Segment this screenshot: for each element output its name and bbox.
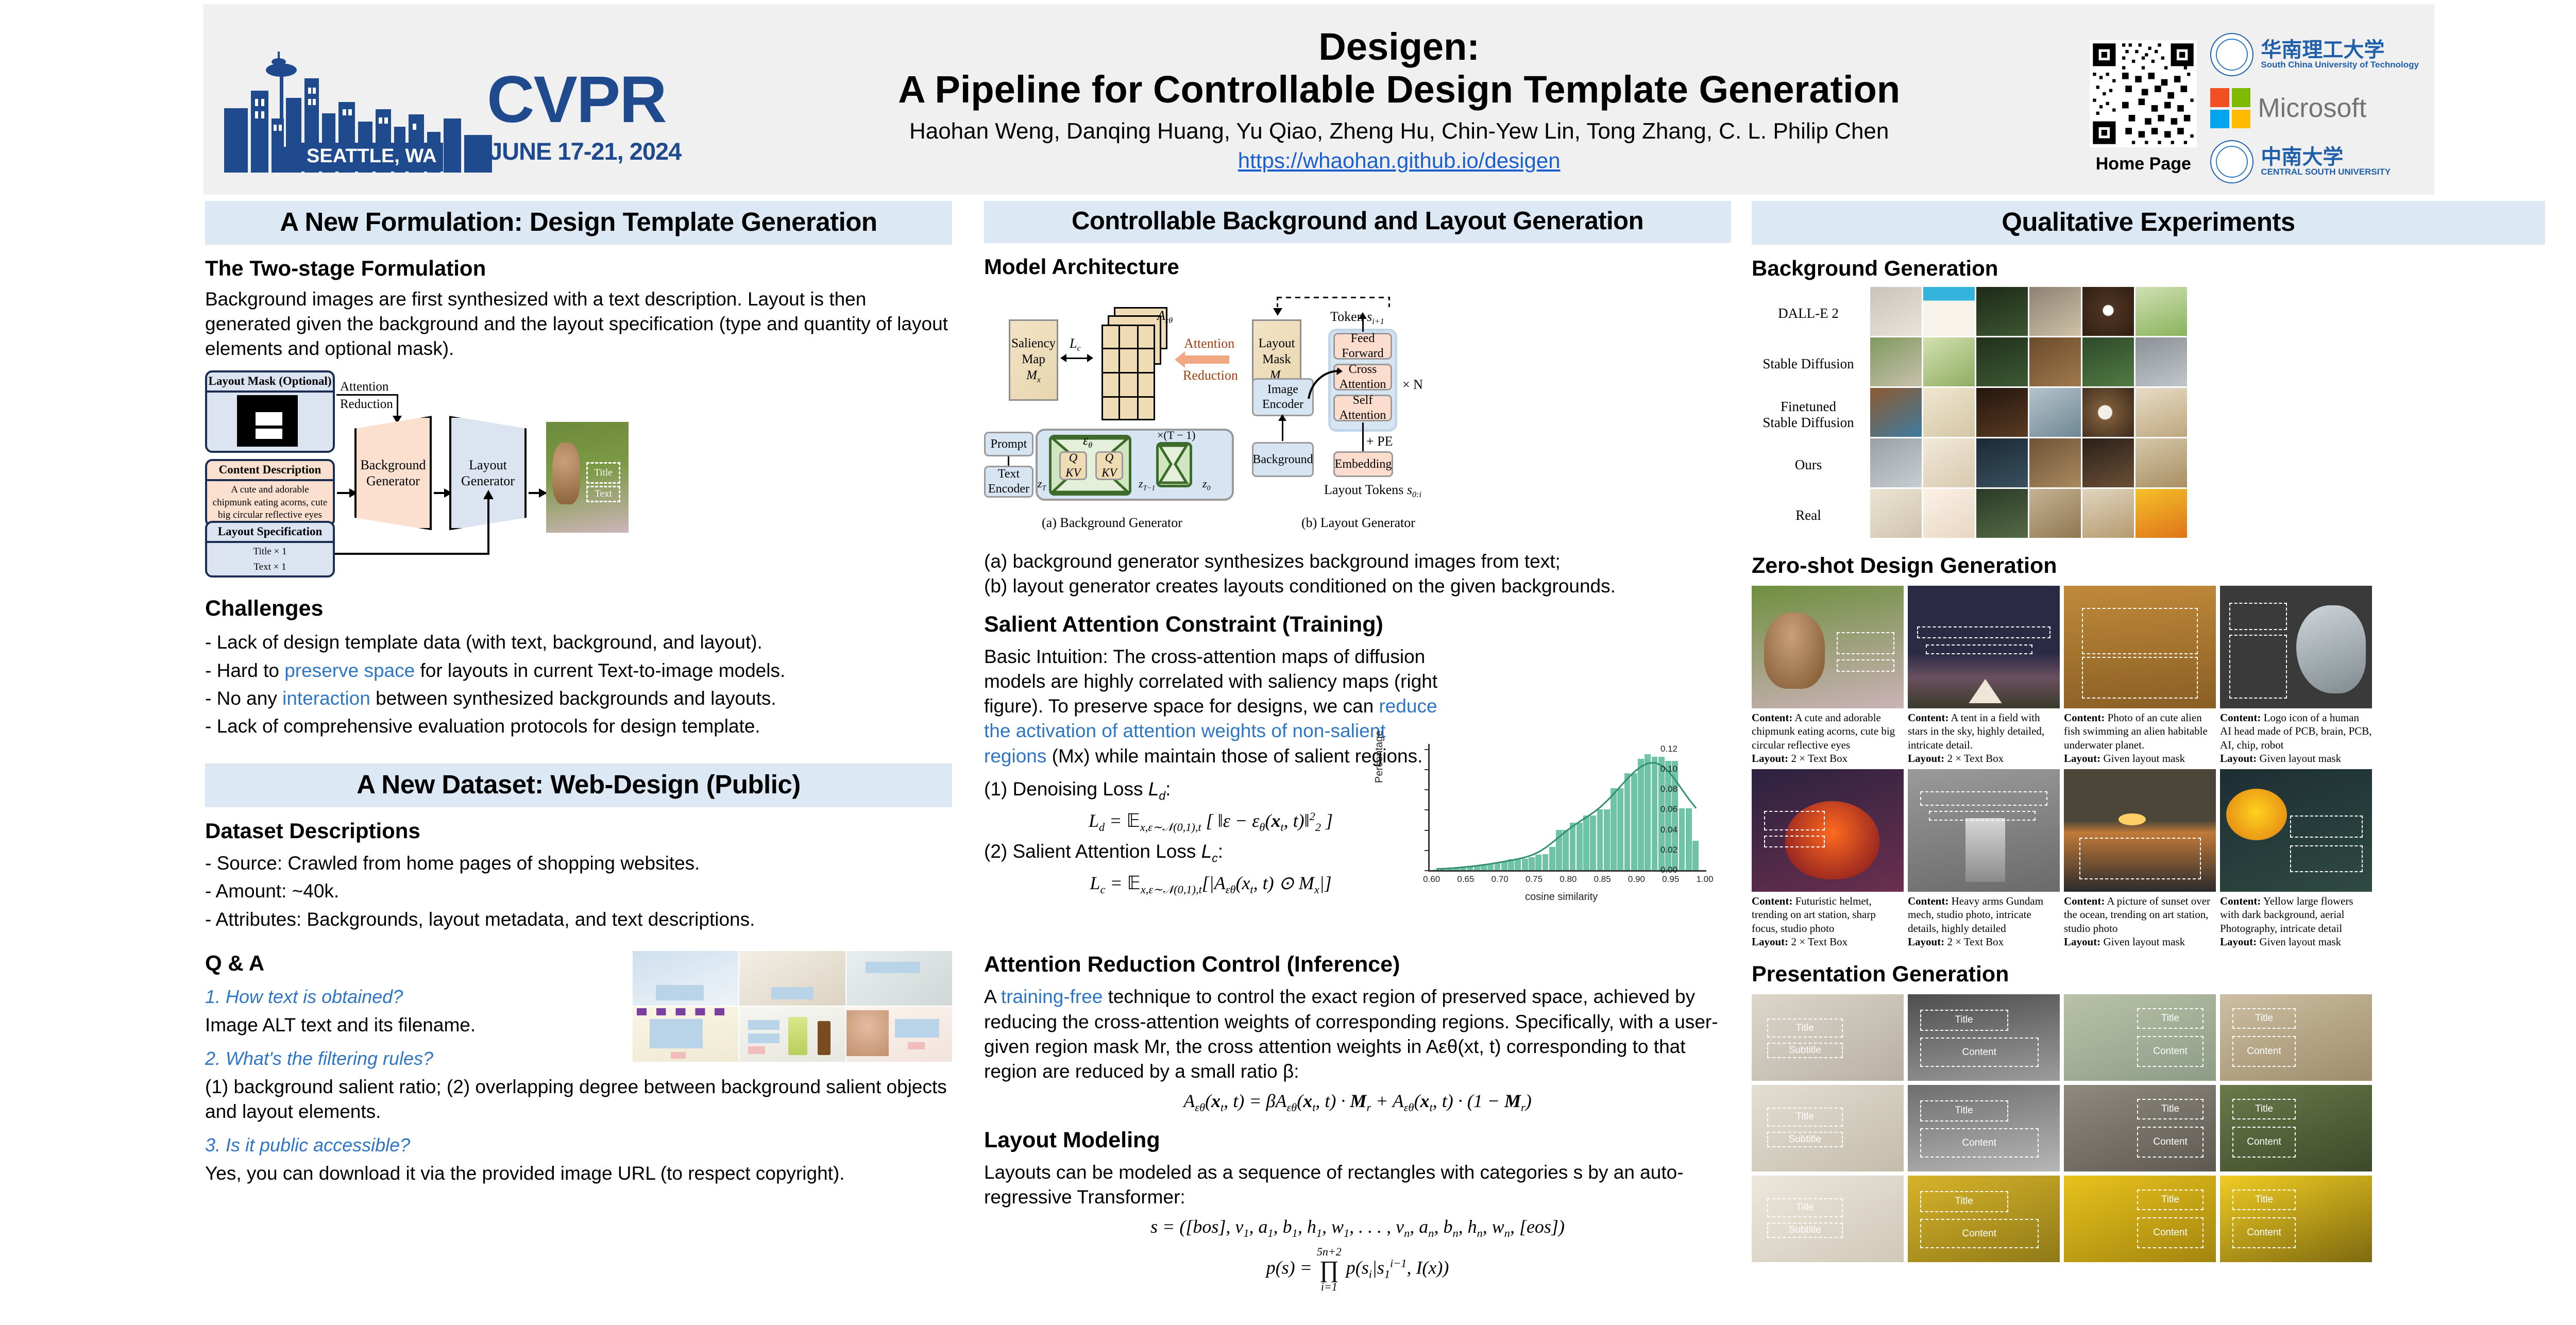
qr-code-icon[interactable]	[2090, 40, 2197, 147]
row-label-ours: Ours	[1752, 440, 1865, 489]
model-architecture-diagram: Saliency Map Mx Lc Aεθ Attention Reducti…	[984, 285, 1731, 502]
dataset-collage	[633, 951, 952, 1062]
zeroshot-item: Content: Photo of an cute alien fish swi…	[2064, 586, 2216, 765]
arch-note-a: (a) background generator synthesizes bac…	[984, 549, 1731, 574]
author-list: Haohan Weng, Danqing Huang, Yu Qiao, Zhe…	[714, 118, 2084, 145]
arch-loop-label: ×(T − 1)	[1157, 429, 1196, 442]
arch-attention-label: Attention	[1184, 336, 1234, 351]
saliency-similarity-histogram: Percentage cosine similarity 0.000.020.0…	[1370, 737, 1731, 907]
chart-ytick: 0.04	[1641, 825, 1677, 835]
bg-grid-row-labels: DALL-E 2 Stable Diffusion Finetuned Stab…	[1752, 287, 1865, 540]
chart-ytick-mark	[1425, 850, 1429, 851]
zeroshot-item: Content: Heavy arms Gundam mech, studio …	[1908, 769, 2060, 948]
arch-times-n: × N	[1402, 377, 1423, 393]
dataset-item-3: - Attributes: Backgrounds, layout metada…	[205, 906, 952, 933]
formula-layout-probability: p(s) = 5n+2∏i=1 p(si|s1i−1, I(x))	[984, 1246, 1731, 1293]
presentation-cell: Title Content	[2064, 994, 2216, 1081]
pipeline-output-image: Title Text	[546, 422, 629, 533]
presentation-cell: Title Content	[2220, 994, 2372, 1081]
text-attention-reduction: A training-free technique to control the…	[984, 984, 1731, 1083]
arch-background: Background	[1252, 442, 1314, 477]
arch-caption-a: (a) Background Generator	[1042, 515, 1182, 531]
presentation-cell: Title Subtitle	[1752, 1085, 1904, 1171]
title-block: Desigen: A Pipeline for Controllable Des…	[708, 26, 2090, 174]
lc-label: Lc	[1070, 336, 1081, 353]
arch-saliency-map: Saliency Map Mx	[1009, 319, 1058, 401]
layout-spec-wrap: Layout Specification Title × 1 Text × 1	[205, 521, 952, 583]
arch-qkv-2: QKV	[1095, 451, 1123, 480]
poster-header: SEATTLE, WA CVPR JUNE 17-21, 2024 Desige…	[204, 4, 2434, 195]
zeroshot-item: Content: Logo icon of a human AI head ma…	[2220, 586, 2372, 765]
presentation-cell: Title Content	[2220, 1085, 2372, 1171]
logo-microsoft: Microsoft	[2210, 82, 2366, 134]
section-band-dataset: A New Dataset: Web-Design (Public)	[205, 763, 952, 807]
chart-ytick: 0.10	[1641, 764, 1677, 774]
collage-cell	[739, 951, 845, 1006]
content-description-body: A cute and adorable chipmunk eating acor…	[207, 481, 333, 524]
presentation-cell: Title Subtitle	[1752, 1176, 1904, 1262]
zeroshot-grid: Content: A cute and adorable chipmunk ea…	[1752, 586, 2576, 948]
left-column: A New Formulation: Design Template Gener…	[205, 201, 952, 1186]
csu-seal-icon	[2210, 140, 2253, 183]
arch-feed-forward: Feed Forward	[1333, 333, 1392, 360]
label-reduction: Reduction	[340, 397, 393, 412]
heading-two-stage: The Two-stage Formulation	[205, 256, 952, 281]
heading-zeroshot: Zero-shot Design Generation	[1752, 553, 2576, 579]
arch-zT: zT	[1038, 477, 1046, 492]
challenge-item-3: - No any interaction between synthesized…	[205, 685, 952, 712]
chart-ytick: 0.06	[1641, 804, 1677, 814]
pipeline-background-generator: Background Generator	[354, 416, 432, 530]
cvpr-logo: SEATTLE, WA CVPR JUNE 17-21, 2024	[214, 22, 708, 177]
chart-xtick: 0.80	[1553, 874, 1584, 885]
content-description-title: Content Description	[207, 461, 333, 481]
row-label-dalle2: DALL-E 2	[1752, 289, 1865, 338]
zeroshot-item: Content: A picture of sunset over the oc…	[2064, 769, 2216, 948]
output-text-box: Text	[586, 486, 620, 502]
arch-zT1: zT−1	[1139, 477, 1155, 492]
qr-label: Home Page	[2090, 154, 2197, 174]
chart-xtick: 0.85	[1587, 874, 1618, 885]
arch-qkv-1: QKV	[1059, 451, 1087, 480]
chart-xtick: 0.90	[1621, 874, 1652, 885]
zeroshot-item: Content: Yellow large flowers with dark …	[2220, 769, 2372, 948]
layout-spec-title: Layout Specification	[207, 523, 333, 543]
layout-mask-label: Layout Mask	[1259, 336, 1295, 366]
qr-block: Home Page	[2090, 11, 2197, 174]
layout-generator-label: Layout Generator	[451, 457, 524, 489]
arch-curve-arrow	[1307, 367, 1343, 401]
zeroshot-item: Content: A tent in a field with stars in…	[1908, 586, 2060, 765]
arch-eps-theta: εθ	[1083, 433, 1092, 450]
arrow-content-to-bg	[337, 492, 357, 494]
arch-token-label: Token si+1	[1330, 309, 1384, 327]
chart-xtick: 0.70	[1484, 874, 1515, 885]
heading-dataset: Dataset Descriptions	[205, 819, 952, 843]
heading-model-architecture: Model Architecture	[984, 254, 1731, 279]
text-two-stage: Background images are first synthesized …	[205, 287, 952, 361]
dataset-item-2: - Amount: ~40k.	[205, 877, 952, 905]
collage-cell	[633, 1007, 738, 1062]
label-attention: Attention	[340, 380, 388, 394]
section-band-controllable: Controllable Background and Layout Gener…	[984, 201, 1731, 243]
arch-z0: z0	[1202, 477, 1210, 492]
dataset-item-1: - Source: Crawled from home pages of sho…	[205, 850, 952, 877]
arrow-layout-to-output	[529, 492, 546, 494]
chart-xtick: 0.60	[1416, 874, 1447, 885]
chart-ytick: 0.02	[1641, 845, 1677, 855]
challenge-item-4: - Lack of comprehensive evaluation proto…	[205, 712, 952, 740]
microsoft-logo-icon	[2210, 88, 2250, 128]
presentation-cell: Title Content	[1908, 1176, 2060, 1262]
presentation-grid: Title Subtitle Title Content Title Conte…	[1752, 994, 2576, 1262]
chart-xlabel: cosine similarity	[1525, 891, 1598, 903]
chart-ytick: 0.12	[1641, 744, 1677, 754]
arch-embedding: Embedding	[1333, 451, 1393, 477]
section-band-formulation: A New Formulation: Design Template Gener…	[205, 201, 952, 245]
presentation-cell: Title Content	[1908, 1085, 2060, 1171]
arch-plus-pe: + PE	[1366, 434, 1393, 449]
header-right-panel: Home Page 华南理工大学 South China University …	[2090, 11, 2419, 188]
poster-title-main: Desigen:	[714, 26, 2084, 69]
row-label-finetuned-sd: Finetuned Stable Diffusion	[1752, 390, 1865, 439]
qa-block: Q & A 1. How text is obtained? Image ALT…	[205, 951, 952, 1186]
collage-cell	[739, 1007, 845, 1062]
zeroshot-item: Content: A cute and adorable chipmunk ea…	[1752, 586, 1904, 765]
presentation-cell: Title Content	[2220, 1176, 2372, 1262]
band-title-dataset: A New Dataset: Web-Design (Public)	[205, 769, 952, 800]
output-title-box: Title	[586, 462, 620, 484]
chart-xtick: 0.65	[1450, 874, 1481, 885]
band-title-formulation: A New Formulation: Design Template Gener…	[205, 207, 952, 237]
saliency-map-label: Saliency Map	[1011, 336, 1056, 366]
collage-cell	[846, 951, 952, 1006]
poster-title-sub: A Pipeline for Controllable Design Templ…	[714, 69, 2084, 111]
conference-location: SEATTLE, WA	[300, 143, 443, 172]
arch-reduction-label: Reduction	[1183, 368, 1238, 383]
arch-caption-b: (b) Layout Generator	[1301, 515, 1415, 531]
layout-spec-line2: Text × 1	[207, 561, 333, 576]
chart-ytick-mark	[1425, 769, 1429, 770]
text-layout-modeling: Layouts can be modeled as a sequence of …	[984, 1160, 1731, 1210]
chart-ytick-mark	[1425, 830, 1429, 831]
csu-name-en: CENTRAL SOUTH UNIVERSITY	[2261, 167, 2391, 177]
heading-salient-attention: Salient Attention Constraint (Training)	[984, 612, 1731, 637]
affiliation-logos: 华南理工大学 South China University of Technol…	[2210, 11, 2419, 188]
band-title-controllable: Controllable Background and Layout Gener…	[984, 207, 1731, 235]
scut-seal-icon	[2210, 33, 2253, 76]
chart-ylabel: Percentage	[1374, 731, 1385, 783]
presentation-cell: Title Content	[2064, 1176, 2216, 1262]
arch-image-encoder: Image Encoder	[1252, 378, 1314, 416]
arch-layout-tokens: Layout Tokens s0:i	[1324, 482, 1421, 500]
chart-ytick-mark	[1425, 809, 1429, 810]
logo-scut: 华南理工大学 South China University of Technol…	[2210, 29, 2419, 80]
heading-challenges: Challenges	[205, 596, 952, 621]
heading-layout-modeling: Layout Modeling	[984, 1128, 1731, 1153]
qa-answer-2: (1) background salient ratio; (2) overla…	[205, 1075, 952, 1124]
chart-ytick: 0.00	[1641, 865, 1677, 875]
chart-xtick: 0.75	[1519, 874, 1550, 885]
row-label-sd: Stable Diffusion	[1752, 339, 1865, 388]
pipeline-content-description-box: Content Description A cute and adorable …	[205, 459, 335, 527]
chart-ytick-mark	[1425, 870, 1429, 871]
heading-attention-reduction: Attention Reduction Control (Inference)	[984, 952, 1731, 977]
chart-xtick: 0.95	[1655, 874, 1686, 885]
band-title-qualitative: Qualitative Experiments	[1752, 207, 2545, 237]
formula-attention-reduction: Aεθ(xt, t) = βAεθ(xt, t) · Mr + Aεθ(xt, …	[984, 1090, 1731, 1114]
layout-spec-line1: Title × 1	[207, 543, 333, 560]
presentation-cell: Title Subtitle	[1752, 994, 1904, 1081]
formula-denoising-loss: Ld = 𝔼x,ε∼𝒩(0,1),t [ ‖ε − εθ(xt, t)‖22 ]	[984, 810, 1437, 834]
right-column: Qualitative Experiments Background Gener…	[1752, 201, 2576, 1262]
section-band-qualitative: Qualitative Experiments	[1752, 201, 2545, 245]
formula-salient-attention-loss: Lc = 𝔼x,ε∼𝒩(0,1),t[|Aεθ(xt, t) ⊙ Mx|]	[984, 872, 1437, 896]
background-generator-label: Background Generator	[357, 457, 430, 489]
attention-map-symbol: Aεθ	[1157, 308, 1173, 326]
zeroshot-item: Content: Futuristic helmet, trending on …	[1752, 769, 1904, 948]
csu-name-cn: 中南大学	[2261, 147, 2391, 167]
middle-column: Controllable Background and Layout Gener…	[984, 201, 1731, 1295]
scut-name-cn: 华南理工大学	[2261, 40, 2419, 60]
pipeline-layout-mask-box: Layout Mask (Optional)	[205, 370, 335, 453]
row-label-real: Real	[1752, 491, 1865, 540]
heading-presentation: Presentation Generation	[1752, 962, 2576, 987]
arch-prompt: Prompt	[984, 432, 1033, 456]
project-url-link[interactable]: https://whaohan.github.io/desigen	[1238, 148, 1561, 173]
logo-csu: 中南大学 CENTRAL SOUTH UNIVERSITY	[2210, 136, 2391, 188]
qa-question-3: 3. Is it public accessible?	[205, 1134, 952, 1156]
pipeline-diagram: Layout Mask (Optional) Attention Reducti…	[205, 370, 952, 525]
background-generation-grid: DALL-E 2 Stable Diffusion Finetuned Stab…	[1752, 287, 2576, 540]
layout-mask-title: Layout Mask (Optional)	[207, 372, 333, 393]
chart-xtick: 1.00	[1689, 874, 1720, 885]
qa-answer-3: Yes, you can download it via the provide…	[205, 1161, 952, 1186]
arrow-bg-to-layout	[434, 492, 451, 494]
presentation-cell: Title Content	[1908, 994, 2060, 1081]
challenge-item-1: - Lack of design template data (with tex…	[205, 628, 952, 656]
scut-name-en: South China University of Technology	[2261, 60, 2419, 70]
challenge-item-2: - Hard to preserve space for layouts in …	[205, 657, 952, 685]
arch-note-b: (b) layout generator creates layouts con…	[984, 574, 1731, 599]
collage-cell	[633, 951, 738, 1006]
bg-grid-cells	[1870, 287, 2187, 540]
chart-ytick: 0.08	[1641, 784, 1677, 794]
conference-dates: JUNE 17-21, 2024	[489, 137, 681, 165]
chart-ytick-mark	[1425, 749, 1429, 750]
chart-ytick-mark	[1425, 789, 1429, 790]
formula-layout-sequence: s = ([bos], v1, a1, b1, h1, w1, . . . , …	[984, 1216, 1731, 1240]
presentation-cell: Title Content	[2064, 1085, 2216, 1171]
arch-text-encoder: Text Encoder	[984, 466, 1033, 498]
heading-background-generation: Background Generation	[1752, 256, 2576, 281]
microsoft-name: Microsoft	[2258, 93, 2366, 124]
pipeline-layout-spec-box: Layout Specification Title × 1 Text × 1	[205, 521, 335, 577]
collage-cell	[846, 1007, 952, 1062]
cvpr-wordmark: CVPR	[487, 62, 666, 138]
